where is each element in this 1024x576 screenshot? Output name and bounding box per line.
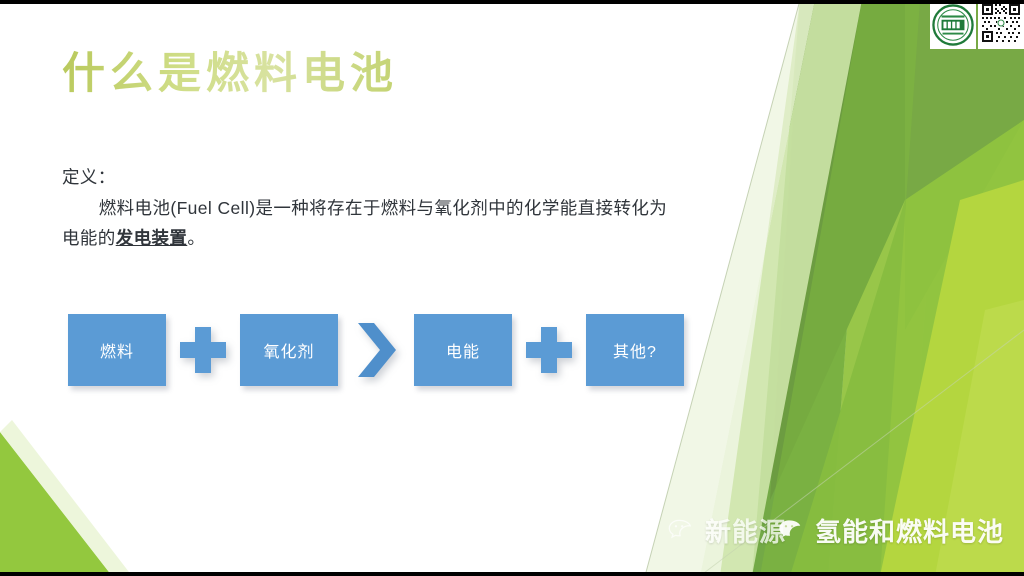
spacer xyxy=(226,350,240,351)
letterbox-bar-bottom xyxy=(0,572,1024,576)
bg-shape-white-fade xyxy=(640,0,800,576)
plus-icon xyxy=(526,327,572,373)
spacer xyxy=(398,350,414,351)
definition-text-part2: 。 xyxy=(187,228,205,248)
wechat-icon xyxy=(778,518,808,544)
diagram-box-other-label: 其他? xyxy=(613,338,657,362)
bg-shape-top-dark xyxy=(770,0,905,500)
bg-shape-right-bright xyxy=(905,0,1024,576)
diagram-box-other: 其他? xyxy=(586,314,684,386)
diagram-box-fuel: 燃料 xyxy=(68,314,166,386)
chevron-right-icon xyxy=(354,319,398,381)
diagram-box-electricity-label: 电能 xyxy=(446,338,480,362)
definition-emphasis: 发电装置 xyxy=(116,228,188,248)
diagram-box-oxidant-label: 氧化剂 xyxy=(263,338,314,362)
watermark-primary: 新能源 xyxy=(668,512,786,549)
bg-shape-sweep-2 xyxy=(760,0,920,576)
page-title: 什么是燃料电池 xyxy=(62,48,398,102)
bg-shape-bottom-left-glow xyxy=(0,420,132,576)
qr-code-icon[interactable] xyxy=(980,2,1022,44)
spacer xyxy=(338,350,354,351)
diagram-box-fuel-label: 燃料 xyxy=(100,338,134,362)
bg-hairline xyxy=(645,0,800,576)
plus-icon xyxy=(180,327,226,373)
watermark-secondary-text: 氢能和燃料电池 xyxy=(815,512,1004,549)
bg-shape-right-light xyxy=(828,0,948,576)
bg-shape-top-olive xyxy=(905,0,1024,330)
wechat-icon xyxy=(668,518,698,544)
spacer xyxy=(572,350,586,351)
organization-logo xyxy=(930,0,976,49)
diagram-box-electricity: 电能 xyxy=(414,314,512,386)
definition-block: 定义： 燃料电池(Fuel Cell)是一种将存在于燃料与氧化剂中的化学能直接转… xyxy=(62,162,682,254)
watermark-primary-text: 新能源 xyxy=(705,512,786,549)
definition-paragraph: 燃料电池(Fuel Cell)是一种将存在于燃料与氧化剂中的化学能直接转化为电能… xyxy=(62,193,682,254)
bg-shape-pale-band-2 xyxy=(700,0,862,576)
bg-shape-sweep xyxy=(790,120,1024,576)
presentation-slide: 什么是燃料电池 定义： 燃料电池(Fuel Cell)是一种将存在于燃料与氧化剂… xyxy=(0,0,1024,576)
spacer xyxy=(166,350,180,351)
qr-code[interactable] xyxy=(978,0,1024,49)
fuel-cell-equation-diagram: 燃料 氧化剂 电能 其他? xyxy=(68,314,684,386)
bg-shape-pale-band xyxy=(645,0,815,576)
bg-shape-bottom-left-wedge xyxy=(0,432,112,576)
circular-seal-logo-icon xyxy=(932,4,974,46)
corner-badges xyxy=(930,0,1024,49)
letterbox-bar-top xyxy=(0,0,1024,4)
spacer xyxy=(512,350,526,351)
watermark-secondary: 氢能和燃料电池 xyxy=(778,512,1004,549)
diagram-box-oxidant: 氧化剂 xyxy=(240,314,338,386)
bg-shape-mid-dark xyxy=(752,0,872,576)
definition-label: 定义： xyxy=(62,162,682,193)
